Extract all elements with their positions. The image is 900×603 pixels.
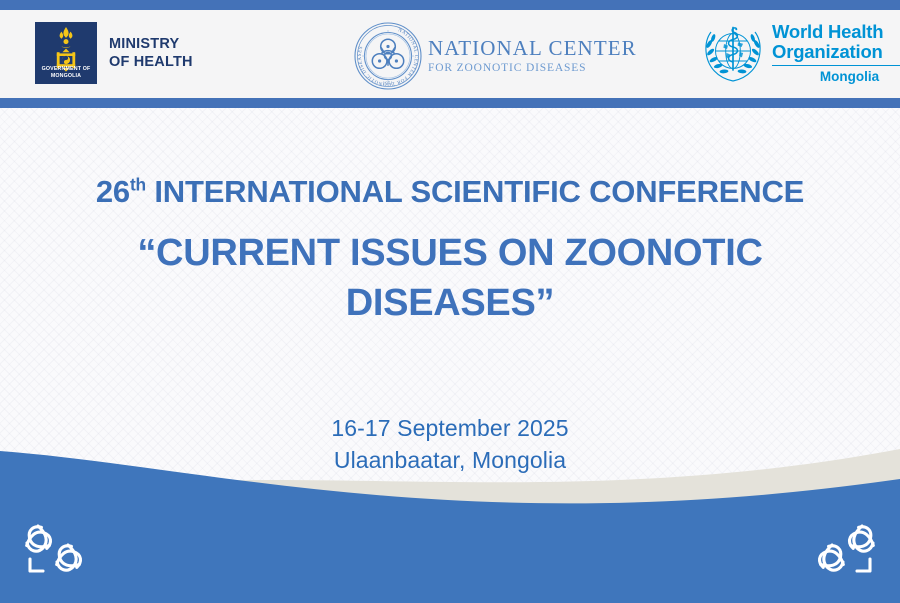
ministry-of-health-logo: GOVERNMENT OF MONGOLIA MINISTRY OF HEALT… (35, 22, 193, 84)
ministry-of-health-name: MINISTRY OF HEALTH (109, 35, 193, 71)
conference-number: 26 (96, 174, 130, 209)
triquetra-knot-left (12, 518, 98, 585)
ministry-name-line1: MINISTRY (109, 35, 193, 53)
who-name-block: World Health Organization Mongolia (772, 22, 900, 85)
who-name-line1: World Health (772, 22, 900, 42)
bottom-wave-decoration (0, 413, 900, 603)
nczd-subtitle: FOR ZOONOTIC DISEASES (428, 63, 637, 75)
title-block: 26th INTERNATIONAL SCIENTIFIC CONFERENCE… (0, 172, 900, 328)
conference-title-slide: GOVERNMENT OF MONGOLIA MINISTRY OF HEALT… (0, 0, 900, 603)
national-center-zoonotic-diseases-logo: NATIONAL CENTER FOR ZOONOTIC DISEASES 19… (352, 20, 637, 92)
conference-ordinal: th (130, 175, 146, 195)
svg-text:NATIONAL CENTER FOR ZOONOTIC D: NATIONAL CENTER FOR ZOONOTIC DISEASES (358, 28, 418, 86)
who-country-label: Mongolia (772, 69, 900, 84)
wave-shapes (0, 413, 900, 603)
who-emblem-icon (700, 20, 766, 86)
triquetra-knot-right (802, 518, 888, 585)
triquetra-knot-icon (12, 518, 98, 580)
triquetra-knot-icon (802, 518, 888, 580)
top-accent-bar (0, 0, 900, 10)
mongolia-flag-emblem: GOVERNMENT OF MONGOLIA (35, 22, 97, 84)
who-name-line2: Organization (772, 42, 900, 62)
who-mongolia-logo: World Health Organization Mongolia (700, 20, 900, 86)
conference-label: INTERNATIONAL SCIENTIFIC CONFERENCE (146, 174, 804, 209)
header-divider-bar (0, 98, 900, 108)
svg-text:1951: 1951 (383, 81, 393, 86)
flag-caption-line1: GOVERNMENT OF (35, 66, 97, 73)
nczd-title: NATIONAL CENTER (428, 38, 637, 59)
biohazard-seal-icon: NATIONAL CENTER FOR ZOONOTIC DISEASES 19… (352, 20, 424, 92)
who-divider-rule (772, 65, 900, 67)
conference-heading: 26th INTERNATIONAL SCIENTIFIC CONFERENCE (0, 172, 900, 212)
flag-caption-line2: MONGOLIA (35, 73, 97, 80)
ministry-name-line2: OF HEALTH (109, 53, 193, 71)
conference-theme: “CURRENT ISSUES ON ZOONOTIC DISEASES” (0, 228, 900, 328)
nczd-name: NATIONAL CENTER FOR ZOONOTIC DISEASES (428, 38, 637, 75)
mongolia-flag-caption: GOVERNMENT OF MONGOLIA (35, 66, 97, 80)
